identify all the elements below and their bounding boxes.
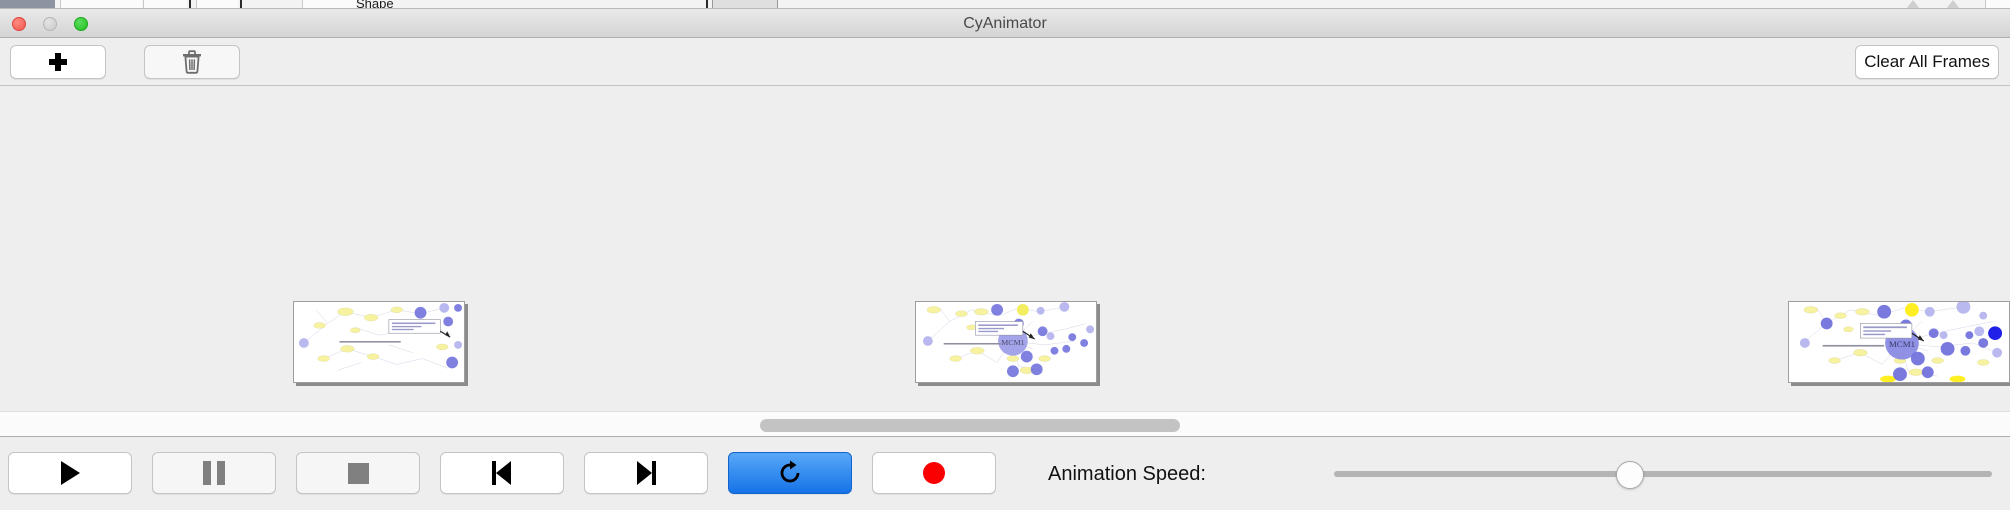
scrollbar-thumb[interactable] — [760, 419, 1180, 432]
network-thumbnail: MCM1 — [916, 302, 1096, 382]
frame-toolbar: Clear All Frames — [0, 38, 2010, 86]
svg-text:MCM1: MCM1 — [1889, 339, 1915, 349]
timeline-canvas[interactable]: MCM1 — [0, 86, 2010, 395]
bg-scroll-knob — [712, 0, 778, 9]
stop-icon — [348, 463, 369, 484]
clear-all-frames-label: Clear All Frames — [1864, 52, 1990, 72]
play-button[interactable] — [8, 452, 132, 494]
svg-text:MCM1: MCM1 — [1001, 338, 1024, 347]
bg-column-label: Shape — [356, 0, 394, 9]
pause-button[interactable] — [152, 452, 276, 494]
window-titlebar: CyAnimator — [0, 9, 2010, 38]
bg-arrow-icon — [1906, 0, 1920, 9]
trash-icon — [182, 50, 202, 74]
skip-to-start-icon — [490, 461, 514, 485]
skip-to-end-button[interactable] — [584, 452, 708, 494]
bg-tick — [240, 0, 242, 9]
bg-cell — [302, 0, 357, 9]
bg-tick — [189, 0, 191, 9]
bg-cell — [196, 0, 238, 9]
playback-control-bar: Animation Speed: — [0, 438, 2010, 510]
delete-frame-button[interactable] — [144, 45, 240, 79]
plus-icon — [49, 53, 67, 71]
bg-tick — [706, 0, 708, 9]
bg-cell — [60, 0, 142, 9]
background-window-strip: Shape — [0, 0, 2010, 9]
play-icon — [61, 461, 80, 485]
loop-button[interactable] — [728, 452, 852, 494]
table-row[interactable]: MCM1 — [1788, 301, 2010, 383]
bg-cell — [1985, 0, 2010, 9]
add-frame-button[interactable] — [10, 45, 106, 79]
record-icon — [923, 462, 945, 484]
skip-to-start-button[interactable] — [440, 452, 564, 494]
bg-sidebar-fragment — [0, 0, 55, 9]
clear-all-frames-button[interactable]: Clear All Frames — [1855, 45, 1999, 79]
bg-arrow-icon — [1946, 0, 1960, 9]
loop-icon — [776, 459, 804, 487]
animation-speed-label: Animation Speed: — [1048, 438, 1206, 510]
table-row[interactable] — [293, 301, 465, 383]
window-title: CyAnimator — [0, 9, 2010, 38]
slider-track — [1334, 471, 1992, 477]
timeline-horizontal-scrollbar[interactable] — [0, 411, 2010, 437]
network-thumbnail — [294, 302, 464, 382]
record-button[interactable] — [872, 452, 996, 494]
table-row[interactable]: MCM1 — [915, 301, 1097, 383]
skip-to-end-icon — [634, 461, 658, 485]
pause-icon — [203, 461, 225, 485]
slider-thumb[interactable] — [1616, 461, 1644, 489]
stop-button[interactable] — [296, 452, 420, 494]
network-thumbnail: MCM1 — [1789, 302, 2009, 382]
bg-cell — [143, 0, 187, 9]
animation-speed-slider[interactable] — [1334, 466, 1992, 482]
